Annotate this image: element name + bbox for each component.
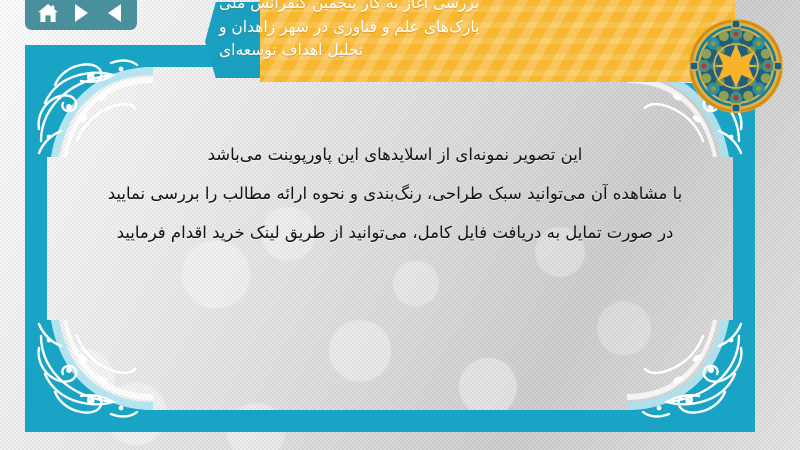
slide-title-line-2: پارک‌های علم و فناوری در شهر زاهدان و <box>219 16 479 40</box>
body-line-1: این تصویر نمونه‌ای از اسلایدهای این پاور… <box>60 136 730 175</box>
slide-title-line-1: بررسی آغاز به کار پنجمین کنفرانس ملی <box>219 0 479 16</box>
slide-title: بررسی آغاز به کار پنجمین کنفرانس ملی پار… <box>205 0 735 90</box>
triangle-left-icon <box>108 4 121 22</box>
body-line-2: با مشاهده آن می‌توانید سبک طراحی، رنگ‌بن… <box>60 175 730 214</box>
slide-title-line-3: تحلیل اهداف توسعه‌ای <box>219 39 363 63</box>
title-banner: بررسی آغاز به کار پنجمین کنفرانس ملی پار… <box>205 0 735 90</box>
slide-canvas: بررسی آغاز به کار پنجمین کنفرانس ملی پار… <box>0 0 800 450</box>
home-button[interactable] <box>35 1 61 25</box>
home-icon <box>37 3 59 23</box>
triangle-right-icon <box>75 4 88 22</box>
previous-slide-button[interactable] <box>101 1 127 25</box>
slide-viewer: بررسی آغاز به کار پنجمین کنفرانس ملی پار… <box>0 0 800 450</box>
slide-body-text: این تصویر نمونه‌ای از اسلایدهای این پاور… <box>60 136 730 252</box>
persian-medallion-icon <box>688 18 784 114</box>
next-slide-button[interactable] <box>68 1 94 25</box>
navigation-toolbar <box>25 0 137 30</box>
body-line-3: در صورت تمایل به دریافت فایل کامل، می‌تو… <box>60 214 730 253</box>
